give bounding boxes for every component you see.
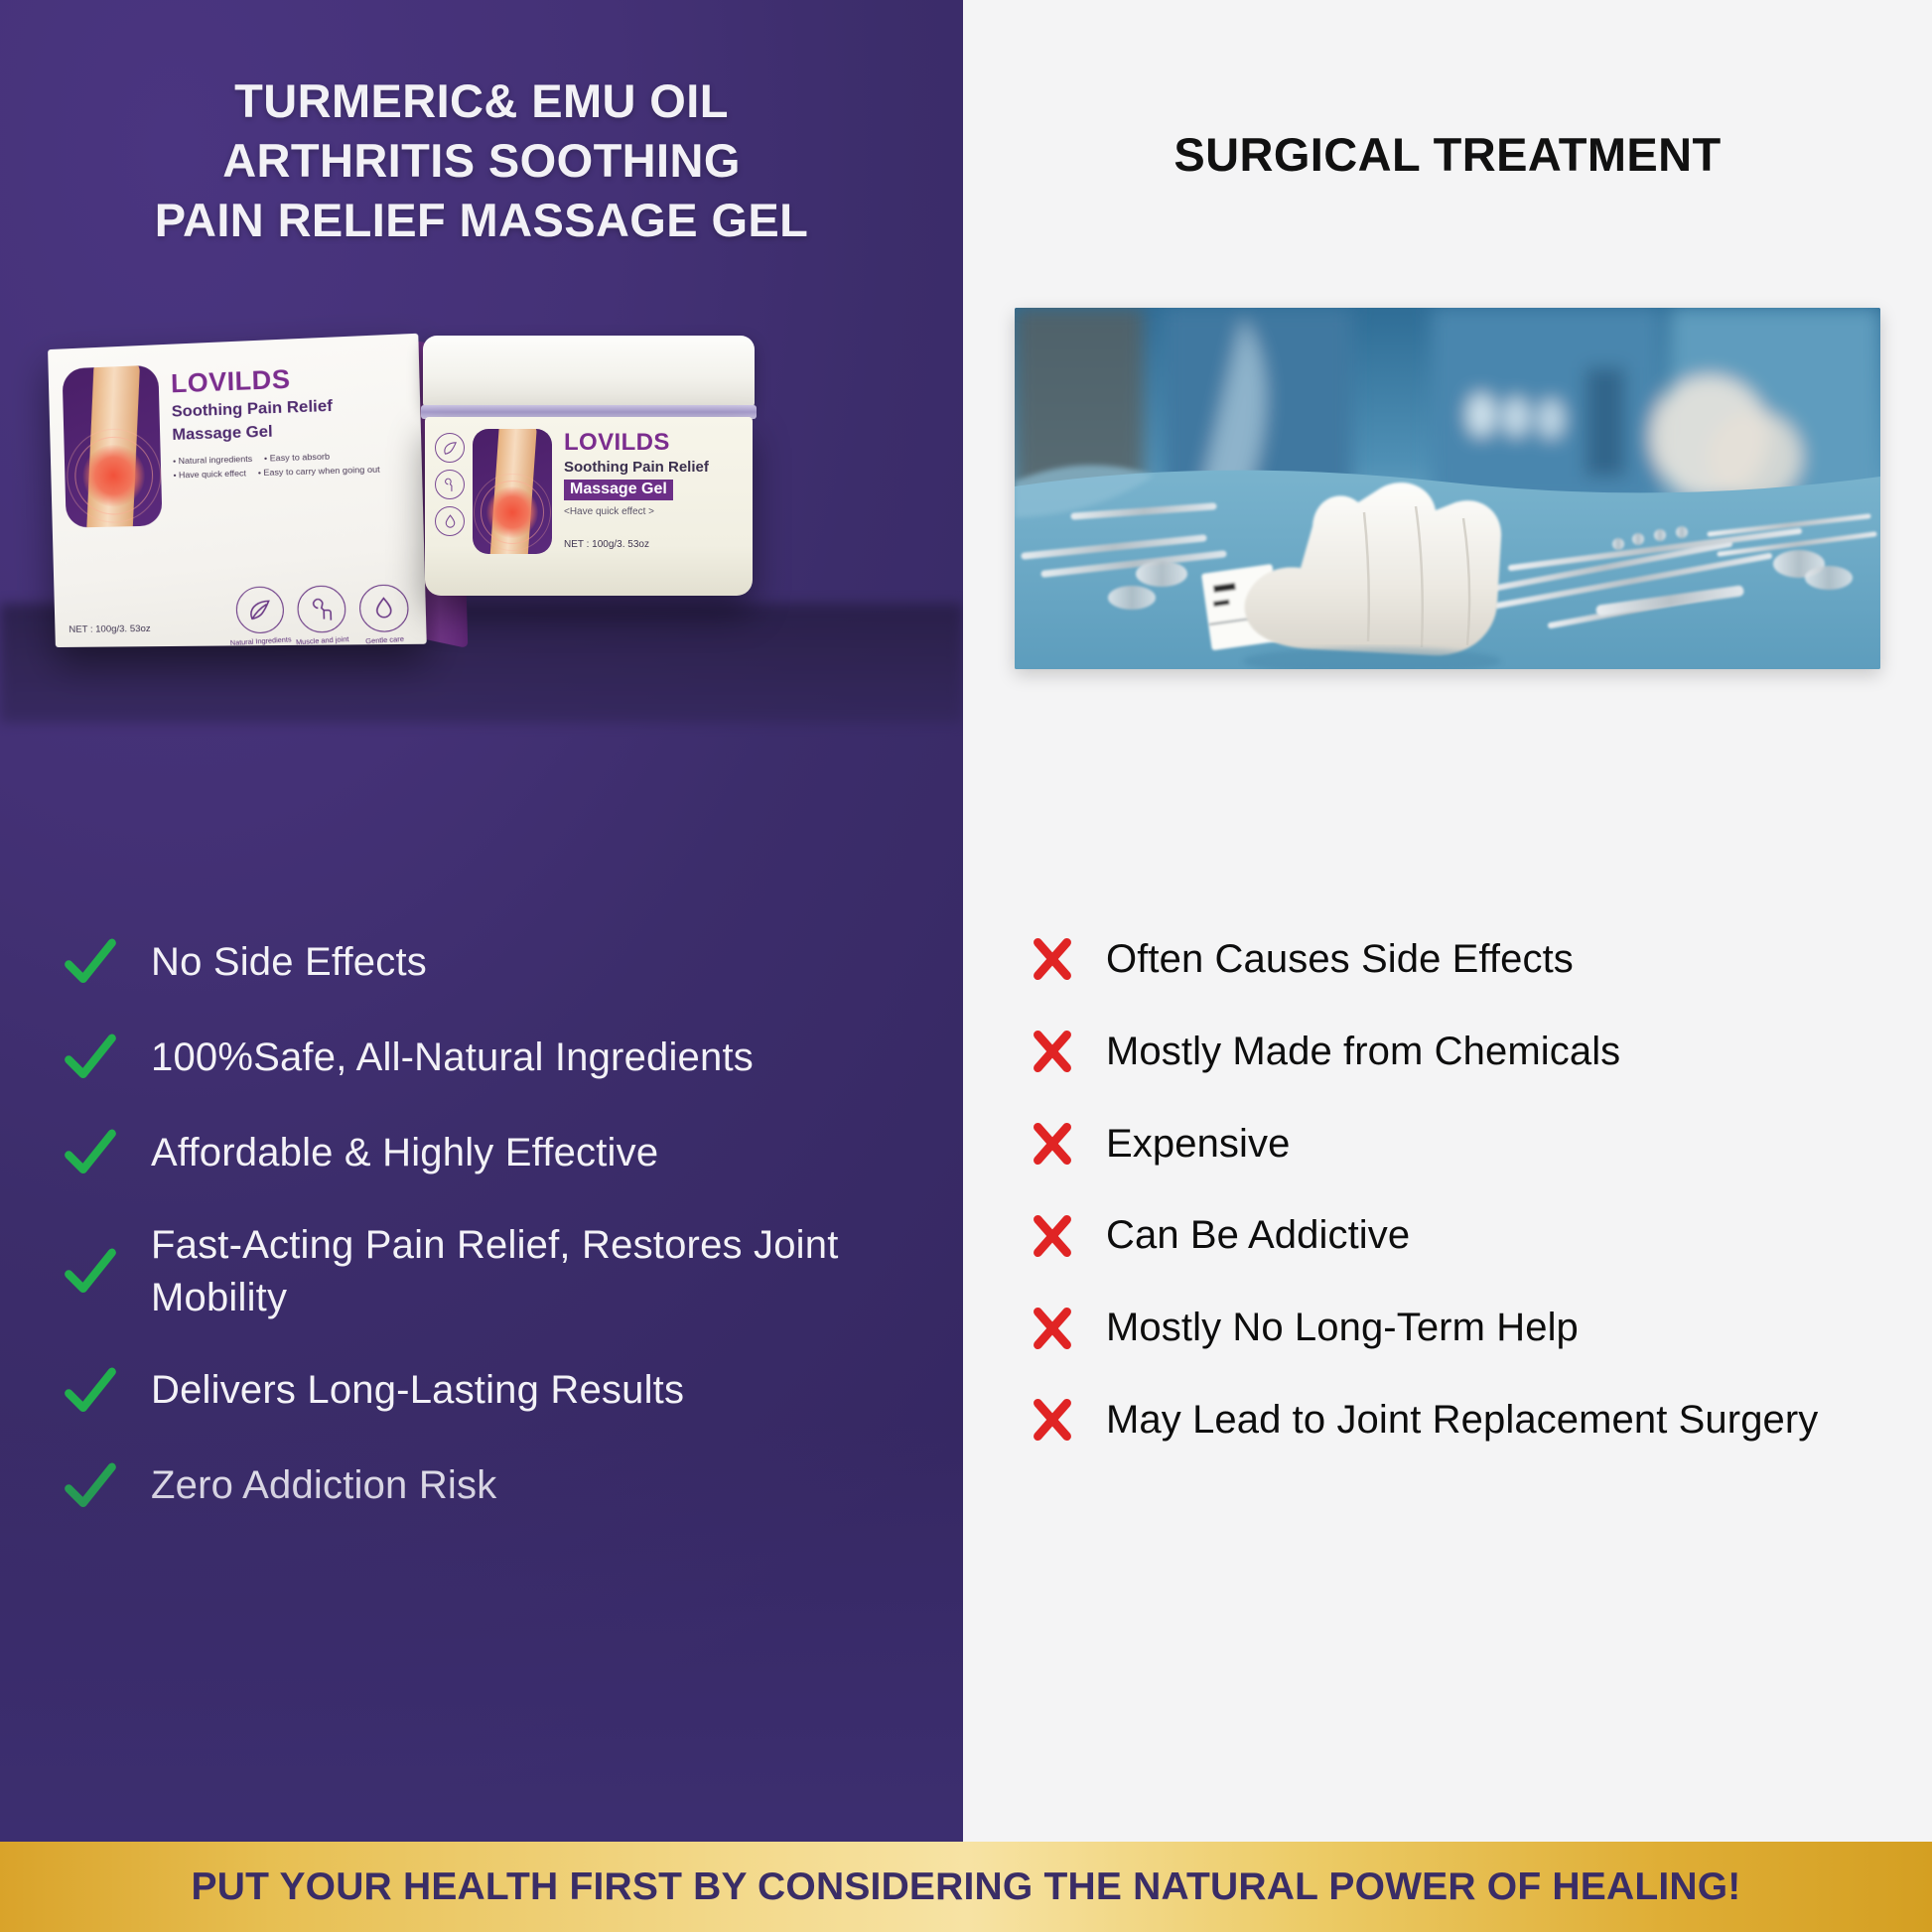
carton-brand: LOVILDS bbox=[171, 358, 403, 399]
cross-icon bbox=[1021, 1211, 1084, 1261]
drawback-item: Often Causes Side Effects bbox=[1021, 933, 1914, 986]
benefit-label: Zero Addiction Risk bbox=[151, 1459, 496, 1512]
jar-knee-illustration-icon bbox=[473, 429, 552, 554]
product-jar: LOVILDS Soothing Pain Relief Massage Gel… bbox=[415, 336, 762, 633]
surgical-photo bbox=[1015, 308, 1880, 669]
drawback-label: Often Causes Side Effects bbox=[1106, 933, 1574, 986]
carton-top-area: LOVILDS Soothing Pain Relief Massage Gel… bbox=[63, 354, 407, 527]
carton-bottom-area: NET : 100g/3. 53oz Natural Ingredients bbox=[68, 576, 409, 635]
jar-water-drop-icon bbox=[435, 506, 465, 536]
carton-seal-row: Natural Ingredients Muscle and joint bbox=[235, 584, 409, 633]
drawback-item: Mostly No Long-Term Help bbox=[1021, 1302, 1914, 1354]
jar-joint-bone-icon bbox=[435, 470, 465, 499]
jar-body: LOVILDS Soothing Pain Relief Massage Gel… bbox=[425, 417, 753, 596]
footer-message: PUT YOUR HEALTH FIRST BY CONSIDERING THE… bbox=[192, 1865, 1741, 1909]
product-title-line-1: TURMERIC& EMU OIL bbox=[0, 71, 963, 131]
benefit-label: No Side Effects bbox=[151, 936, 427, 989]
knee-pain-illustration-icon bbox=[63, 365, 163, 528]
benefits-list: No Side Effects 100%Safe, All-Natural In… bbox=[58, 933, 941, 1515]
check-icon bbox=[58, 933, 123, 991]
jar-net-weight: NET : 100g/3. 53oz bbox=[564, 539, 739, 550]
jar-subtitle: Soothing Pain Relief bbox=[564, 459, 739, 476]
comparison-columns: TURMERIC& EMU OIL ARTHRITIS SOOTHING PAI… bbox=[0, 0, 1932, 1842]
carton-seal-label-3: Gentle care bbox=[365, 636, 404, 646]
benefit-item: 100%Safe, All-Natural Ingredients bbox=[58, 1029, 941, 1086]
drawback-item: Can Be Addictive bbox=[1021, 1209, 1914, 1262]
product-photo: LOVILDS Soothing Pain Relief Massage Gel… bbox=[0, 298, 963, 715]
cross-icon bbox=[1021, 1304, 1084, 1353]
carton-bullet-3: • Have quick effect bbox=[173, 467, 246, 483]
carton-subtitle-line-2: Massage Gel bbox=[172, 417, 404, 445]
cross-icon bbox=[1021, 1119, 1084, 1169]
drawbacks-list: Often Causes Side Effects Mostly Made fr… bbox=[1021, 933, 1914, 1447]
jar-highlight-label: Massage Gel bbox=[564, 480, 673, 500]
carton-text-block: LOVILDS Soothing Pain Relief Massage Gel… bbox=[171, 354, 407, 525]
drawback-label: May Lead to Joint Replacement Surgery bbox=[1106, 1394, 1818, 1447]
cross-icon bbox=[1021, 1027, 1084, 1076]
drawback-label: Mostly Made from Chemicals bbox=[1106, 1026, 1620, 1078]
benefit-item: Zero Addiction Risk bbox=[58, 1457, 941, 1515]
carton-bullet-4: • Easy to carry when going out bbox=[258, 463, 380, 481]
surgical-title: SURGICAL TREATMENT bbox=[963, 127, 1932, 182]
benefit-item: Delivers Long-Lasting Results bbox=[58, 1362, 941, 1420]
product-title-line-3: PAIN RELIEF MASSAGE GEL bbox=[0, 191, 963, 250]
benefit-item: No Side Effects bbox=[58, 933, 941, 991]
benefit-item: Fast-Acting Pain Relief, Restores Joint … bbox=[58, 1219, 941, 1324]
benefit-label: Affordable & Highly Effective bbox=[151, 1127, 658, 1179]
cross-icon bbox=[1021, 1395, 1084, 1445]
jar-brand: LOVILDS bbox=[564, 429, 739, 457]
jar-seal-column bbox=[435, 429, 465, 586]
natural-product-column: TURMERIC& EMU OIL ARTHRITIS SOOTHING PAI… bbox=[0, 0, 963, 1842]
benefit-label: Delivers Long-Lasting Results bbox=[151, 1364, 684, 1417]
check-icon bbox=[58, 1457, 123, 1515]
jar-claim: <Have quick effect > bbox=[564, 506, 739, 517]
benefit-label: Fast-Acting Pain Relief, Restores Joint … bbox=[151, 1219, 941, 1324]
check-icon bbox=[58, 1124, 123, 1181]
carton-bullets: • Natural ingredients • Easy to absorb •… bbox=[173, 448, 405, 483]
surgical-treatment-column: SURGICAL TREATMENT bbox=[963, 0, 1932, 1842]
drawback-label: Mostly No Long-Term Help bbox=[1106, 1302, 1579, 1354]
cross-icon bbox=[1021, 934, 1084, 984]
surgical-scene-illustration bbox=[1015, 308, 1880, 669]
drawback-label: Expensive bbox=[1106, 1118, 1290, 1171]
drawback-item: May Lead to Joint Replacement Surgery bbox=[1021, 1394, 1914, 1447]
jar-text-block: LOVILDS Soothing Pain Relief Massage Gel… bbox=[560, 429, 739, 586]
drawback-item: Expensive bbox=[1021, 1118, 1914, 1171]
product-title: TURMERIC& EMU OIL ARTHRITIS SOOTHING PAI… bbox=[0, 71, 963, 250]
check-icon bbox=[58, 1362, 123, 1420]
benefit-item: Affordable & Highly Effective bbox=[58, 1124, 941, 1181]
drawback-label: Can Be Addictive bbox=[1106, 1209, 1410, 1262]
drawback-item: Mostly Made from Chemicals bbox=[1021, 1026, 1914, 1078]
jar-leaf-icon bbox=[435, 433, 465, 463]
benefit-label: 100%Safe, All-Natural Ingredients bbox=[151, 1032, 754, 1084]
carton-front-panel: LOVILDS Soothing Pain Relief Massage Gel… bbox=[48, 334, 427, 647]
leaf-icon: Natural Ingredients bbox=[235, 586, 284, 633]
footer-banner: PUT YOUR HEALTH FIRST BY CONSIDERING THE… bbox=[0, 1842, 1932, 1932]
jar-lid bbox=[423, 336, 755, 407]
carton-net-weight: NET : 100g/3. 53oz bbox=[69, 623, 151, 635]
product-carton: LOVILDS Soothing Pain Relief Massage Gel… bbox=[48, 334, 427, 647]
product-title-line-2: ARTHRITIS SOOTHING bbox=[0, 131, 963, 191]
check-icon bbox=[58, 1243, 123, 1301]
joint-bone-icon: Muscle and joint bbox=[297, 585, 346, 632]
check-icon bbox=[58, 1029, 123, 1086]
infographic-root: TURMERIC& EMU OIL ARTHRITIS SOOTHING PAI… bbox=[0, 0, 1932, 1932]
water-drop-icon: Gentle care bbox=[358, 584, 409, 631]
